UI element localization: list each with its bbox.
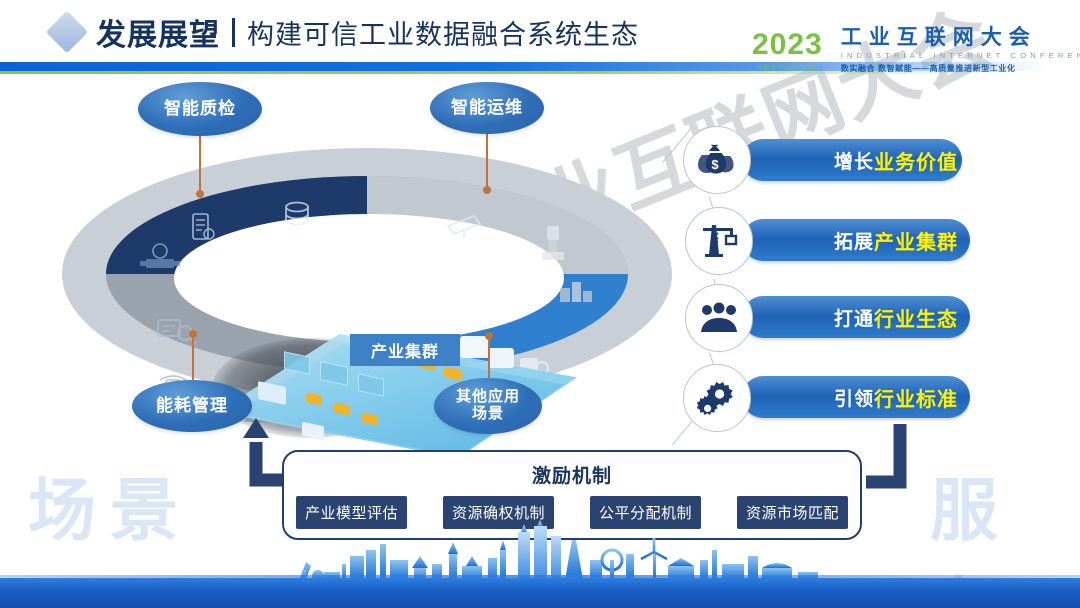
service-highlight-1: 业务价值	[874, 146, 958, 175]
center-label: 产业集群	[350, 334, 460, 366]
machine-white	[488, 348, 514, 368]
service-pill-industry-ecosystem[interactable]: 打通 行业生态	[742, 296, 970, 338]
database-stack-icon	[282, 200, 312, 228]
slide-canvas: 2023工业互联网大会 场景 服务 发展展望 构建可信工业数据融合系统生态 20…	[0, 0, 1080, 608]
page-title-main: 发展展望	[96, 10, 220, 54]
server-rack-icon	[190, 212, 216, 242]
title-separator	[232, 18, 235, 47]
scene-intelligent-operation-maintenance[interactable]: 智能运维	[430, 82, 544, 134]
scene-intelligent-quality-inspection[interactable]: 智能质检	[138, 82, 262, 136]
logo-name-cn: 工业互联网大会	[841, 27, 1080, 48]
service-prefix-3: 打通	[834, 304, 874, 331]
logo-date: 中国·苏州 9月11日-13日	[758, 64, 816, 71]
panel-title: 激励机制	[284, 461, 860, 488]
logo-tagline: 数实融合 数智赋能——高质量推进新型工业化	[841, 63, 1080, 74]
service-pill-industrial-cluster[interactable]: 拓展 产业集群	[742, 219, 970, 261]
machine-white	[460, 336, 490, 358]
diamond-icon	[46, 11, 88, 53]
scene-other-line1: 其他应用	[456, 389, 520, 406]
security-camera-icon	[444, 210, 486, 240]
service-prefix-4: 引领	[834, 384, 874, 411]
page-title: 发展展望 构建可信工业数据融合系统生态	[96, 10, 639, 54]
money-bags-icon: $	[683, 126, 751, 194]
service-highlight-3: 行业生态	[874, 303, 958, 332]
industrial-camera-icon	[140, 242, 180, 272]
service-highlight-4: 行业标准	[874, 383, 958, 412]
service-prefix-1: 增长	[834, 147, 874, 174]
page-title-sub: 构建可信工业数据融合系统生态	[247, 13, 639, 52]
people-group-icon	[685, 284, 753, 352]
scene-other-line2: 场景	[456, 406, 520, 423]
service-highlight-2: 产业集群	[874, 226, 958, 255]
industrial-cluster-illustration: 产业集群	[62, 148, 672, 400]
logo-name-en: INDUSTRIAL INTERNET CONFERENCE	[841, 51, 1080, 60]
factory-blocks-icon	[558, 278, 594, 304]
connector-stem-maintenance	[486, 134, 488, 190]
connector-stem-other	[488, 336, 490, 378]
service-prefix-2: 拓展	[834, 227, 874, 254]
logo-year: 2023	[752, 30, 823, 60]
gears-icon	[683, 364, 751, 432]
connector-stem-quality	[199, 136, 201, 194]
svg-text:$: $	[711, 157, 719, 172]
city-skyline-decoration	[0, 520, 1080, 608]
crane-icon	[685, 207, 753, 275]
conference-logo: 2023 中国·苏州 9月11日-13日 工业互联网大会 INDUSTRIAL …	[752, 24, 1072, 76]
bottom-blue-bar	[0, 578, 1080, 608]
connector-stem-energy	[192, 334, 194, 380]
scene-energy-consumption-management[interactable]: 能耗管理	[132, 380, 252, 432]
scene-other-application-scenarios[interactable]: 其他应用 场景	[434, 378, 542, 434]
robot-arm-icon	[536, 222, 570, 264]
service-pill-business-value[interactable]: 增长 业务价值	[742, 139, 962, 181]
service-pill-industry-standard[interactable]: 引领 行业标准	[742, 376, 970, 418]
disc-center-hole	[174, 214, 564, 342]
